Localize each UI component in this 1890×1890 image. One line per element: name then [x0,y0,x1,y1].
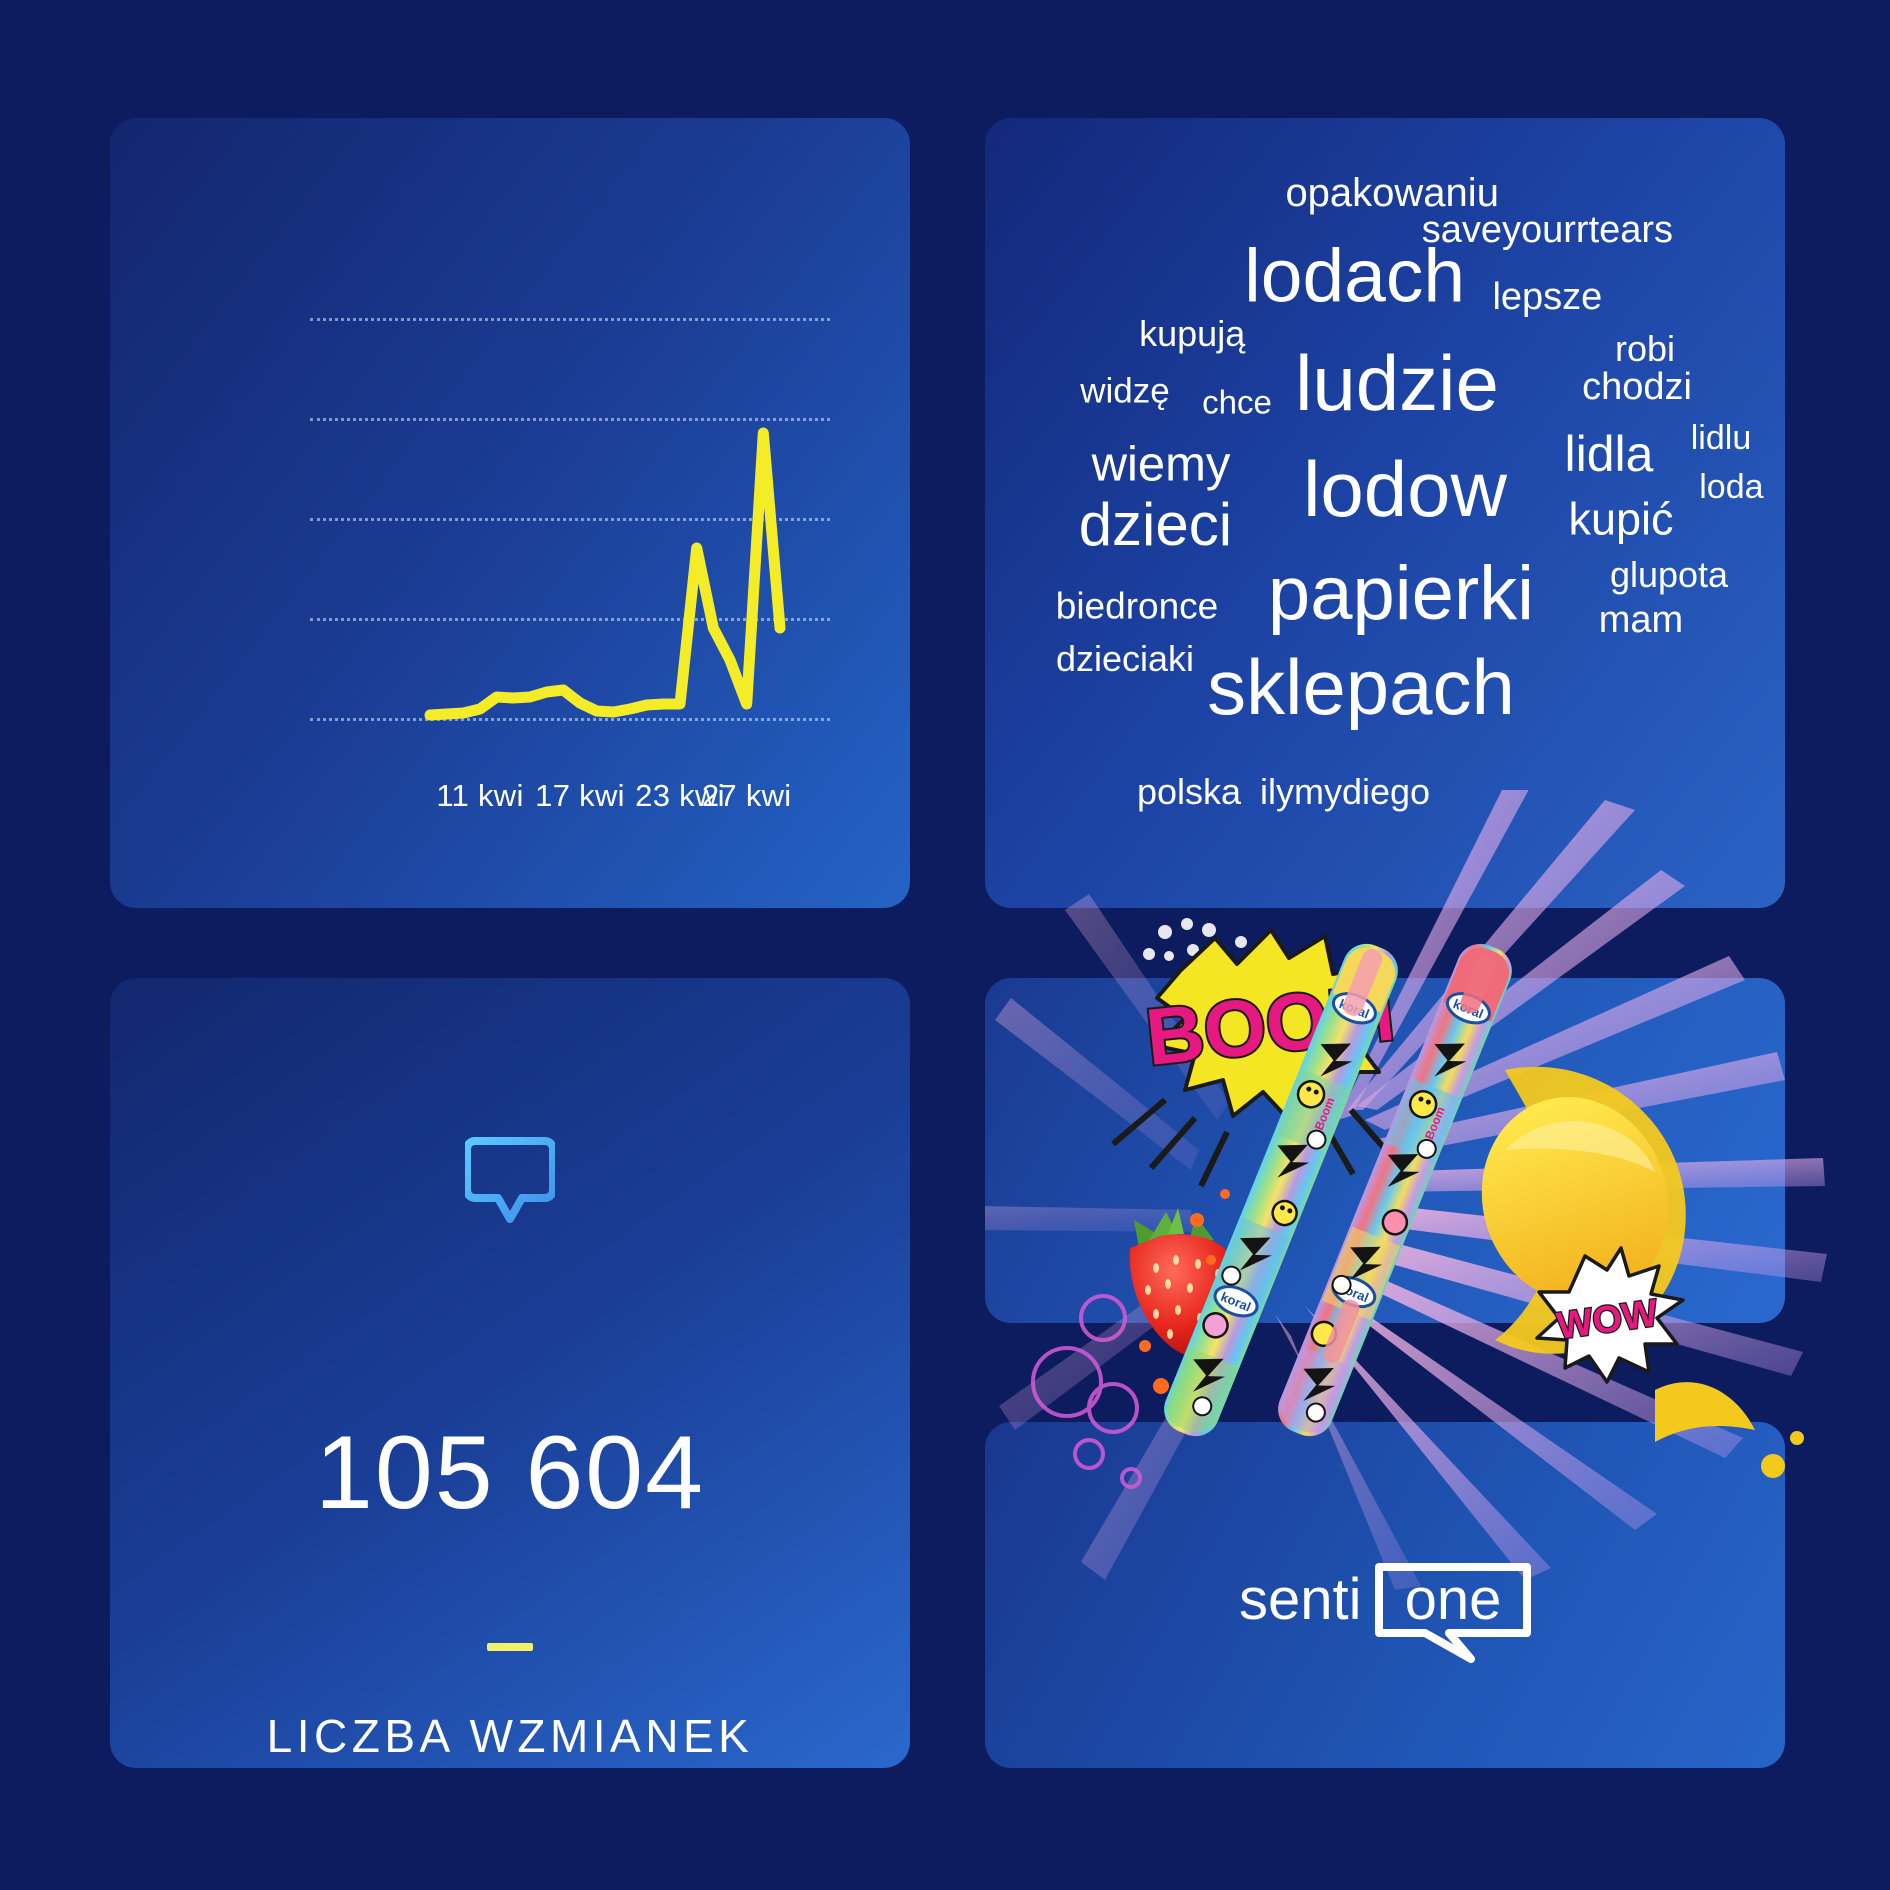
word-cloud-term[interactable]: sklepach [1207,648,1515,726]
word-cloud-term[interactable]: papierki [1268,556,1534,632]
product-image-card [985,978,1785,1323]
word-cloud-term[interactable]: widzę [1080,373,1169,408]
chart-area: 010 k20 k30 k40 k 11 kwi17 kwi23 kwi27 k… [110,118,910,908]
mentions-chart-card: 010 k20 k30 k40 k 11 kwi17 kwi23 kwi27 k… [110,118,910,908]
chart-x-tick-label: 17 kwi [535,778,625,814]
word-cloud-term[interactable]: chce [1202,386,1272,419]
word-cloud-term[interactable]: lepsze [1492,278,1602,316]
logo-senti-text: senti [1239,1567,1362,1632]
logo-one-text: one [1405,1567,1502,1632]
chart-x-tick-label: 27 kwi [702,778,792,814]
word-cloud-term[interactable]: glupota [1610,557,1728,593]
mentions-count-card: 105 604 LICZBA WZMIANEK [110,978,910,1768]
word-cloud-term[interactable]: lodach [1244,239,1465,314]
word-cloud-term[interactable]: wiemy [1092,440,1231,489]
sentione-logo: senti one [985,1525,1785,1695]
word-cloud-term[interactable]: lidlu [1691,421,1751,455]
word-cloud-term[interactable]: loda [1699,470,1763,504]
word-cloud-term[interactable]: dzieci [1079,495,1232,555]
metric-divider [487,1643,533,1651]
mentions-count-value: 105 604 [315,1414,705,1533]
word-cloud-term[interactable]: chodzi [1582,368,1692,406]
word-cloud-term[interactable]: opakowaniu [1285,173,1499,213]
speech-bubble-icon [465,1136,555,1224]
word-cloud-term[interactable]: lidla [1565,429,1654,479]
word-cloud-term[interactable]: kupić [1568,497,1673,542]
chart-x-tick-label: 11 kwi [436,778,523,814]
word-cloud-term[interactable]: dzieciaki [1056,641,1194,677]
word-cloud-term[interactable]: robi [1615,331,1675,367]
word-cloud-term[interactable]: biedronce [1056,588,1219,625]
mentions-count-label: LICZBA WZMIANEK [267,1709,754,1763]
report-canvas: 010 k20 k30 k40 k 11 kwi17 kwi23 kwi27 k… [0,0,1890,1890]
word-cloud-card: opakowaniusaveyourrtearslodachlepszekupu… [985,118,1785,908]
word-cloud: opakowaniusaveyourrtearslodachlepszekupu… [985,118,1785,908]
word-cloud-term[interactable]: mam [1599,601,1683,639]
word-cloud-term[interactable]: ludzie [1295,344,1499,422]
word-cloud-term[interactable]: lodow [1303,450,1507,528]
word-cloud-term[interactable]: kupują [1139,316,1245,352]
word-cloud-term[interactable]: ilymydiego [1260,774,1430,810]
word-cloud-term[interactable]: polska [1137,774,1241,810]
chart-x-axis: 11 kwi17 kwi23 kwi27 kwi [110,778,910,838]
sentione-logo-svg: senti one [1235,1555,1535,1665]
